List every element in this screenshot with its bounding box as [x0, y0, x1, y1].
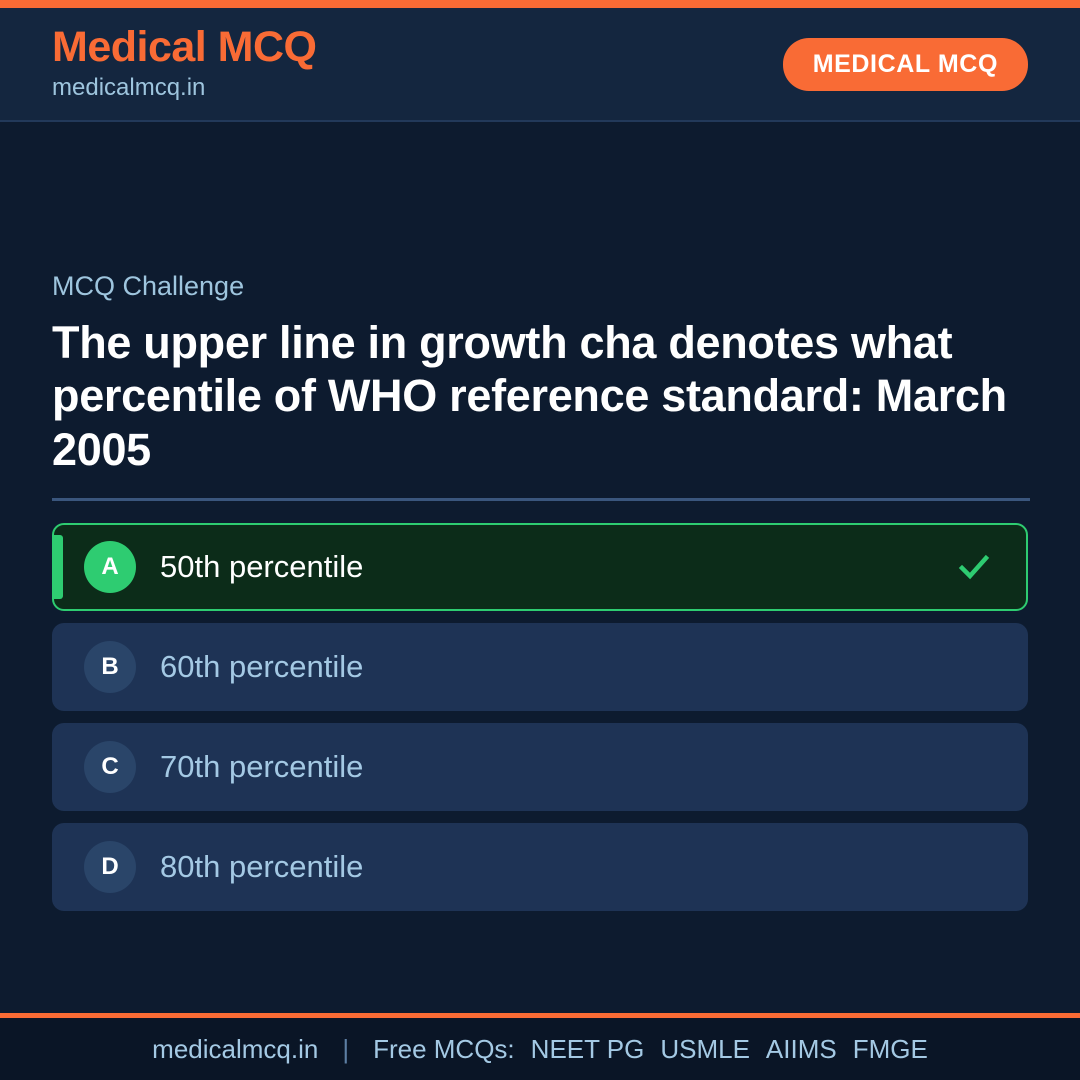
- option-text-d: 80th percentile: [160, 848, 363, 885]
- option-text-b: 60th percentile: [160, 648, 363, 685]
- footer-exam-fmge: FMGE: [853, 1036, 928, 1062]
- option-row-b[interactable]: B 60th percentile: [52, 623, 1028, 711]
- page-footer: medicalmcq.in | Free MCQs: NEET PG USMLE…: [0, 1018, 1080, 1080]
- option-row-d[interactable]: D 80th percentile: [52, 823, 1028, 911]
- option-letter-a: A: [84, 541, 136, 593]
- question-divider: [52, 498, 1030, 501]
- option-row-c[interactable]: C 70th percentile: [52, 723, 1028, 811]
- header-badge: MEDICAL MCQ: [783, 38, 1028, 91]
- footer-site: medicalmcq.in: [152, 1036, 318, 1062]
- footer-exam-aiims: AIIMS: [766, 1036, 837, 1062]
- option-letter-d: D: [84, 841, 136, 893]
- footer-exam-neet-pg: NEET PG: [531, 1036, 645, 1062]
- option-text-a: 50th percentile: [160, 548, 363, 585]
- question-text: The upper line in growth cha denotes wha…: [52, 316, 1028, 475]
- brand-url: medicalmcq.in: [52, 72, 317, 103]
- option-text-c: 70th percentile: [160, 748, 363, 785]
- option-row-a[interactable]: A 50th percentile: [52, 523, 1028, 611]
- eyebrow-label: MCQ Challenge: [52, 270, 1028, 302]
- footer-separator: |: [334, 1036, 357, 1062]
- main-content: MCQ Challenge The upper line in growth c…: [0, 122, 1080, 1013]
- top-accent-bar: [0, 0, 1080, 8]
- brand-block: Medical MCQ medicalmcq.in: [52, 25, 317, 104]
- options-list: A 50th percentile B 60th percentile C 70…: [52, 523, 1028, 911]
- footer-exam-list: NEET PG USMLE AIIMS FMGE: [531, 1036, 928, 1062]
- footer-label: Free MCQs:: [373, 1036, 515, 1062]
- mcq-card: Medical MCQ medicalmcq.in MEDICAL MCQ MC…: [0, 0, 1080, 1080]
- option-letter-c: C: [84, 741, 136, 793]
- brand-title: Medical MCQ: [52, 25, 317, 71]
- check-icon: [954, 547, 994, 587]
- footer-exam-usmle: USMLE: [660, 1036, 750, 1062]
- page-header: Medical MCQ medicalmcq.in MEDICAL MCQ: [0, 8, 1080, 122]
- option-letter-b: B: [84, 641, 136, 693]
